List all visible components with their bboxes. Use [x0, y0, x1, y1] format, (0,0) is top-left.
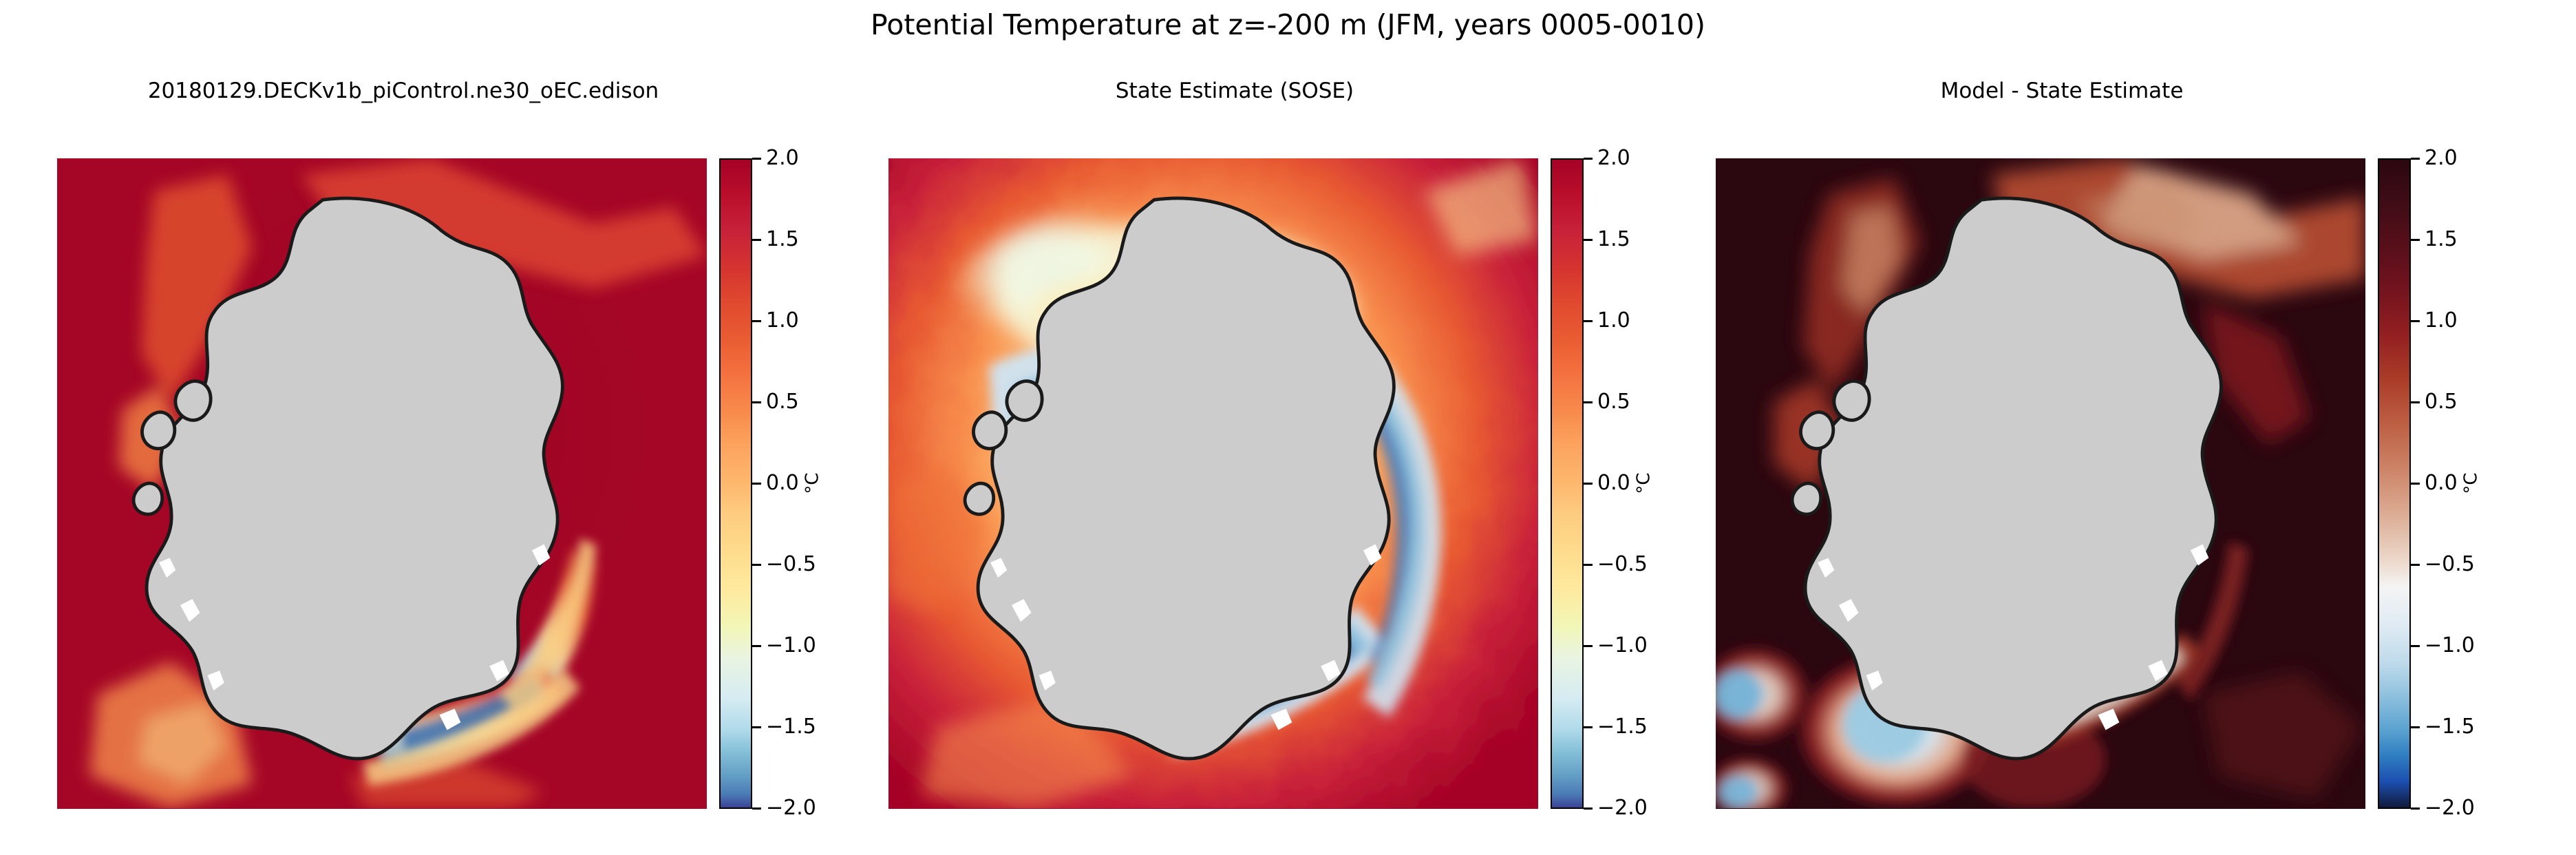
colorbar-gradient-difference[interactable] [2378, 158, 2411, 809]
colorbar-tickmark [1584, 158, 1593, 160]
colorbar-unit-label-model: °C [802, 472, 823, 494]
colorbar-tickmark [752, 483, 761, 485]
colorbar-tick-label: −2.0 [2425, 795, 2475, 821]
colorbar-unit-label-difference: °C [2461, 472, 2482, 494]
colorbar-tickmark [752, 401, 761, 403]
colorbar-tickmark [1584, 401, 1593, 403]
colorbar-tickmark [1584, 726, 1593, 728]
colorbar-tick-label: −1.5 [1597, 714, 1648, 740]
colorbar-tick-label: −1.0 [766, 633, 816, 659]
antarctica-landmass-state-estimate [960, 191, 1415, 770]
map-difference[interactable] [1716, 158, 2365, 809]
panel-title-model: 20180129.DECKv1b_piControl.ne30_oEC.edis… [28, 72, 779, 110]
colorbar-tickmark [1584, 483, 1593, 485]
panel-title-state-estimate: State Estimate (SOSE) [859, 72, 1610, 110]
colorbar-tick-label: −0.5 [766, 551, 816, 578]
colorbar-tick-label: 1.0 [2425, 308, 2458, 334]
colorbar-ticks-state-estimate: 2.0 1.5 1.0 0.5 0.0 −0.5 −1.0 −1.5 −2.0 [1584, 158, 1679, 809]
colorbar-tick-label: 0.0 [2425, 470, 2458, 496]
colorbar-tickmark [1584, 807, 1593, 810]
colorbar-tickmark [752, 807, 761, 810]
colorbar-tick-label: 0.0 [1597, 470, 1630, 496]
colorbar-tickmark [1584, 320, 1593, 322]
colorbar-ticks-difference: 2.0 1.5 1.0 0.5 0.0 −0.5 −1.0 −1.5 −2.0 [2411, 158, 2506, 809]
colorbar-tick-label: −1.0 [1597, 633, 1648, 659]
colorbar-tickmark [1584, 239, 1593, 241]
colorbar-tick-label: 0.5 [1597, 389, 1630, 415]
colorbar-tickmark [2411, 726, 2420, 728]
colorbar-tick-label: 1.0 [1597, 308, 1630, 334]
figure-title: Potential Temperature at z=-200 m (JFM, … [0, 0, 2576, 50]
colorbar-tickmark [2411, 807, 2420, 810]
colorbar-tick-label: −1.5 [2425, 714, 2475, 740]
colorbar-tick-label: 0.0 [766, 470, 799, 496]
colorbar-tickmark [1584, 564, 1593, 566]
colorbar-tick-label: 2.0 [2425, 145, 2458, 171]
colorbar-state-estimate: 2.0 1.5 1.0 0.5 0.0 −0.5 −1.0 −1.5 −2.0 … [1551, 158, 1679, 809]
colorbar-gradient-state-estimate[interactable] [1551, 158, 1584, 809]
map-model[interactable] [57, 158, 707, 809]
panel-difference: Model - State Estimate [1686, 72, 2511, 836]
panel-model: 20180129.DECKv1b_piControl.ne30_oEC.edis… [28, 72, 852, 836]
colorbar-tickmark [752, 645, 761, 647]
colorbar-difference: 2.0 1.5 1.0 0.5 0.0 −0.5 −1.0 −1.5 −2.0 … [2378, 158, 2506, 809]
colorbar-tick-label: 1.5 [766, 226, 799, 253]
panel-state-estimate: State Estimate (SOSE) [859, 72, 1683, 836]
colorbar-tickmark [2411, 564, 2420, 566]
colorbar-tick-label: 2.0 [766, 145, 799, 171]
colorbar-tick-label: −1.0 [2425, 633, 2475, 659]
colorbar-tickmark [2411, 239, 2420, 241]
colorbar-tick-label: −1.5 [766, 714, 816, 740]
colorbar-tickmark [752, 726, 761, 728]
colorbar-tick-label: −2.0 [1597, 795, 1648, 821]
colorbar-tickmark [2411, 483, 2420, 485]
antarctica-landmass-model [129, 191, 584, 770]
colorbar-tick-label: 0.5 [2425, 389, 2458, 415]
colorbar-unit-label-state-estimate: °C [1634, 472, 1654, 494]
colorbar-tick-label: 1.5 [2425, 226, 2458, 253]
colorbar-tickmark [2411, 401, 2420, 403]
colorbar-tickmark [2411, 320, 2420, 322]
colorbar-tick-label: −0.5 [2425, 551, 2475, 578]
colorbar-tick-label: 1.0 [766, 308, 799, 334]
colorbar-tickmark [2411, 158, 2420, 160]
colorbar-tickmark [2411, 645, 2420, 647]
colorbar-tickmark [752, 239, 761, 241]
colorbar-tickmark [1584, 645, 1593, 647]
colorbar-model: 2.0 1.5 1.0 0.5 0.0 −0.5 −1.0 −1.5 −2.0 … [719, 158, 847, 809]
colorbar-tickmark [752, 158, 761, 160]
colorbar-tick-label: 0.5 [766, 389, 799, 415]
antarctica-landmass-difference [1787, 191, 2242, 770]
colorbar-tickmark [752, 320, 761, 322]
colorbar-tick-label: −0.5 [1597, 551, 1648, 578]
colorbar-ticks-model: 2.0 1.5 1.0 0.5 0.0 −0.5 −1.0 −1.5 −2.0 [752, 158, 847, 809]
colorbar-tick-label: 1.5 [1597, 226, 1630, 253]
map-state-estimate[interactable] [888, 158, 1538, 809]
colorbar-tick-label: 2.0 [1597, 145, 1630, 171]
panel-title-difference: Model - State Estimate [1686, 72, 2438, 110]
colorbar-tickmark [752, 564, 761, 566]
colorbar-gradient-model[interactable] [719, 158, 752, 809]
colorbar-tick-label: −2.0 [766, 795, 816, 821]
